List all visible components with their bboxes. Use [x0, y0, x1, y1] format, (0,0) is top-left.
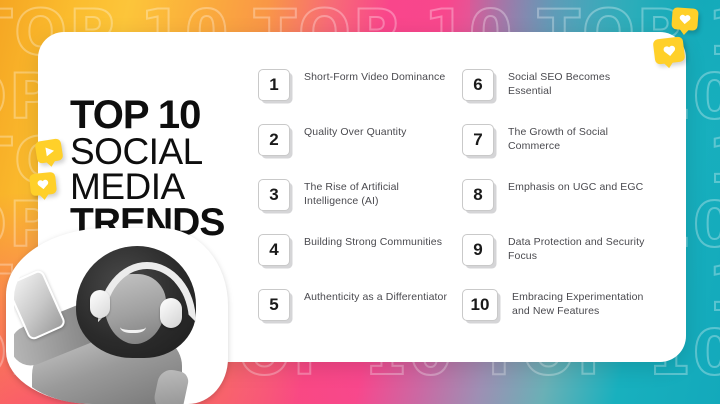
list-item[interactable]: 2 Quality Over Quantity: [258, 123, 448, 177]
heart-icon: [36, 178, 49, 190]
title-line-media: MEDIA: [70, 169, 260, 204]
trend-number: 1: [258, 69, 290, 101]
trend-column-left: 1 Short-Form Video Dominance 2 Quality O…: [258, 68, 448, 343]
list-item[interactable]: 10 Embracing Experimentation and New Fea…: [462, 288, 652, 342]
trend-label: Emphasis on UGC and EGC: [494, 178, 652, 194]
trend-number: 2: [258, 124, 290, 156]
list-item[interactable]: 1 Short-Form Video Dominance: [258, 68, 448, 122]
play-badge: [34, 138, 63, 164]
heart-badge-top-right-2: [653, 36, 686, 64]
photo-content: [14, 238, 220, 404]
trend-number: 8: [462, 179, 494, 211]
heart-icon: [662, 44, 676, 57]
trend-label: The Rise of Artificial Intelligence (AI): [290, 178, 448, 208]
list-item[interactable]: 8 Emphasis on UGC and EGC: [462, 178, 652, 232]
headphone-left: [90, 290, 110, 318]
title-line-social: SOCIAL: [70, 134, 260, 169]
heart-badge-top-right-1: [671, 7, 698, 31]
trend-number: 7: [462, 124, 494, 156]
trend-number: 6: [462, 69, 494, 101]
trend-label: Quality Over Quantity: [290, 123, 448, 139]
trend-number: 10: [462, 289, 498, 321]
trend-label: Building Strong Communities: [290, 233, 448, 249]
list-item[interactable]: 3 The Rise of Artificial Intelligence (A…: [258, 178, 448, 232]
list-item[interactable]: 6 Social SEO Becomes Essential: [462, 68, 652, 122]
trend-number: 9: [462, 234, 494, 266]
trend-number: 5: [258, 289, 290, 321]
infographic-canvas: TOP 10 TOP 10 TOP 10 TOP 10 TOP 10 TOP 1…: [0, 0, 720, 404]
heart-badge-left: [29, 172, 57, 197]
trend-number: 3: [258, 179, 290, 211]
person-photo: [2, 222, 234, 404]
trend-column-right: 6 Social SEO Becomes Essential 7 The Gro…: [462, 68, 652, 343]
list-item[interactable]: 7 The Growth of Social Commerce: [462, 123, 652, 177]
list-item[interactable]: 4 Building Strong Communities: [258, 233, 448, 287]
trend-label: The Growth of Social Commerce: [494, 123, 652, 153]
title-line-top10: TOP 10: [70, 96, 260, 134]
list-item[interactable]: 5 Authenticity as a Differentiator: [258, 288, 448, 342]
trend-label: Embracing Experimentation and New Featur…: [498, 288, 652, 318]
list-item[interactable]: 9 Data Protection and Security Focus: [462, 233, 652, 287]
play-icon: [43, 145, 56, 158]
heart-icon: [679, 13, 692, 25]
trend-label: Authenticity as a Differentiator: [290, 288, 448, 304]
headphone-right: [160, 298, 182, 328]
trend-label: Short-Form Video Dominance: [290, 68, 448, 84]
trend-number: 4: [258, 234, 290, 266]
trend-label: Social SEO Becomes Essential: [494, 68, 652, 98]
trend-label: Data Protection and Security Focus: [494, 233, 652, 263]
